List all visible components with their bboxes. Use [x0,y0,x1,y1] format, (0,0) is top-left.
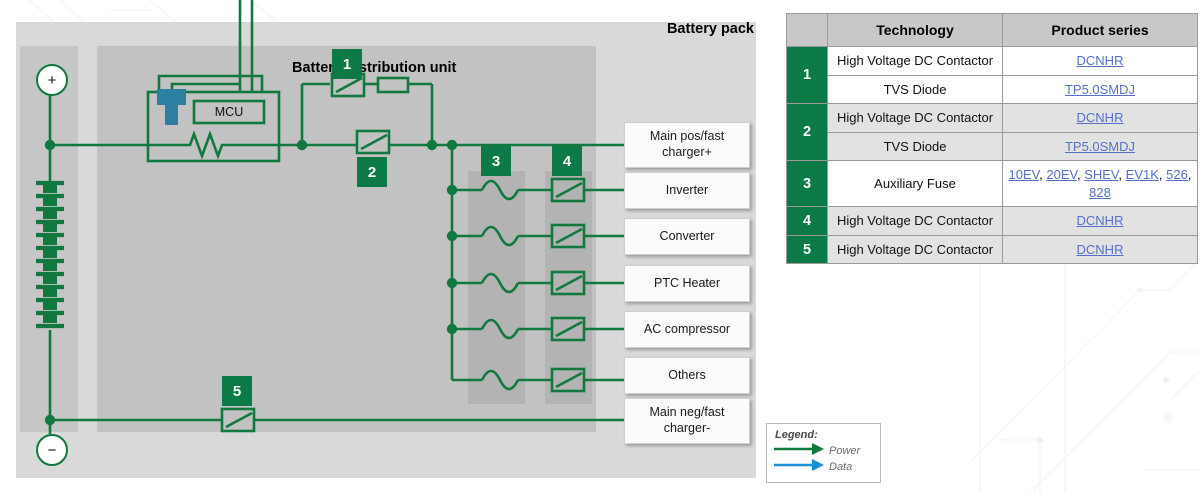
cell-technology: High Voltage DC Contactor [828,207,1003,236]
cell-technology: High Voltage DC Contactor [828,235,1003,264]
table-row: TVS DiodeTP5.0SMDJ [787,132,1198,161]
product-link[interactable]: 526 [1166,167,1188,182]
product-link[interactable]: SHEV [1084,167,1118,182]
cell-product-series: DCNHR [1003,104,1198,133]
table-row: TVS DiodeTP5.0SMDJ [787,75,1198,104]
table-row: 2High Voltage DC ContactorDCNHR [787,104,1198,133]
header-technology: Technology [828,14,1003,47]
legend-box: Legend: Power Data [766,423,881,483]
negative-terminal: − [36,434,68,466]
row-number-3: 3 [787,161,828,207]
positive-terminal: + [36,64,68,96]
marker-5[interactable]: 5 [222,376,252,406]
table-row: 5High Voltage DC ContactorDCNHR [787,235,1198,264]
row-number-4: 4 [787,207,828,236]
product-link[interactable]: 828 [1089,185,1111,200]
cell-technology: Auxiliary Fuse [828,161,1003,207]
table-row: 3Auxiliary Fuse10EV, 20EV, SHEV, EV1K, 5… [787,161,1198,207]
cell-technology: High Voltage DC Contactor [828,47,1003,76]
output-box-main-pos-fast-charger[interactable]: Main pos/fast charger+ [624,122,750,168]
row-number-2: 2 [787,104,828,161]
product-link[interactable]: DCNHR [1077,110,1124,125]
battery-cell-stack [36,183,64,326]
row-number-1: 1 [787,47,828,104]
data-arrow-icon [774,459,824,471]
negative-terminal-label: − [48,443,57,458]
cell-product-series: DCNHR [1003,207,1198,236]
mcu-connector-icon [157,89,186,125]
header-number [787,14,828,47]
header-product-series: Product series [1003,14,1198,47]
mcu-label: MCU [194,101,264,123]
product-link[interactable]: EV1K [1126,167,1159,182]
output-box-others[interactable]: Others [624,357,750,394]
output-box-main-neg-fast-charger[interactable]: Main neg/fast charger- [624,398,750,444]
table-row: 4High Voltage DC ContactorDCNHR [787,207,1198,236]
output-box-converter[interactable]: Converter [624,218,750,255]
output-box-ac-compressor[interactable]: AC compressor [624,311,750,348]
marker-2[interactable]: 2 [357,157,387,187]
legend-title: Legend: [775,429,818,441]
table-body: 1High Voltage DC ContactorDCNHRTVS Diode… [787,47,1198,264]
cell-product-series: TP5.0SMDJ [1003,132,1198,161]
power-arrow-icon [774,443,824,455]
product-link[interactable]: DCNHR [1077,53,1124,68]
cell-technology: TVS Diode [828,132,1003,161]
legend-data-label: Data [829,461,852,473]
battery-system-diagram: Battery pack Battery distribution unit [0,0,772,493]
legend-arrows [774,442,826,478]
marker-4[interactable]: 4 [552,146,582,176]
product-link[interactable]: DCNHR [1077,213,1124,228]
cell-product-series: 10EV, 20EV, SHEV, EV1K, 526, 828 [1003,161,1198,207]
cell-product-series: DCNHR [1003,47,1198,76]
table-header-row: Technology Product series [787,14,1198,47]
cell-technology: High Voltage DC Contactor [828,104,1003,133]
cell-technology: TVS Diode [828,75,1003,104]
marker-3[interactable]: 3 [481,146,511,176]
row-number-5: 5 [787,235,828,264]
cell-product-series: DCNHR [1003,235,1198,264]
output-box-inverter[interactable]: Inverter [624,172,750,209]
product-link[interactable]: TP5.0SMDJ [1065,139,1135,154]
legend-power-label: Power [829,445,860,457]
positive-terminal-label: + [48,73,57,88]
cell-product-series: TP5.0SMDJ [1003,75,1198,104]
product-link[interactable]: DCNHR [1077,242,1124,257]
product-reference-table-wrapper: Technology Product series 1High Voltage … [786,13,1188,341]
product-link[interactable]: 10EV [1009,167,1040,182]
output-box-ptc-heater[interactable]: PTC Heater [624,265,750,302]
marker-1[interactable]: 1 [332,49,362,79]
table-row: 1High Voltage DC ContactorDCNHR [787,47,1198,76]
product-reference-table: Technology Product series 1High Voltage … [786,13,1198,264]
product-link[interactable]: 20EV [1046,167,1077,182]
product-link[interactable]: TP5.0SMDJ [1065,82,1135,97]
